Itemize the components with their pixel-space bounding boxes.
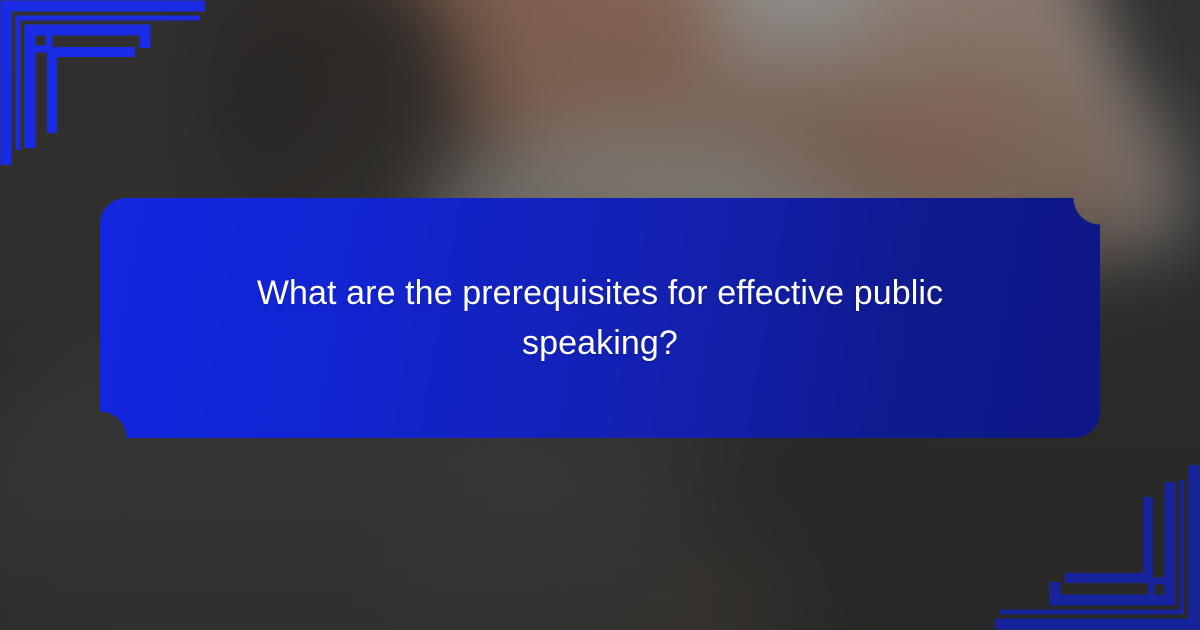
question-banner: What are the prerequisites for effective… — [100, 198, 1100, 438]
corner-bracket-top-left-icon — [0, 0, 210, 200]
question-card: What are the prerequisites for effective… — [0, 0, 1200, 630]
corner-bracket-bottom-right-icon — [990, 430, 1200, 630]
question-text: What are the prerequisites for effective… — [210, 268, 990, 369]
